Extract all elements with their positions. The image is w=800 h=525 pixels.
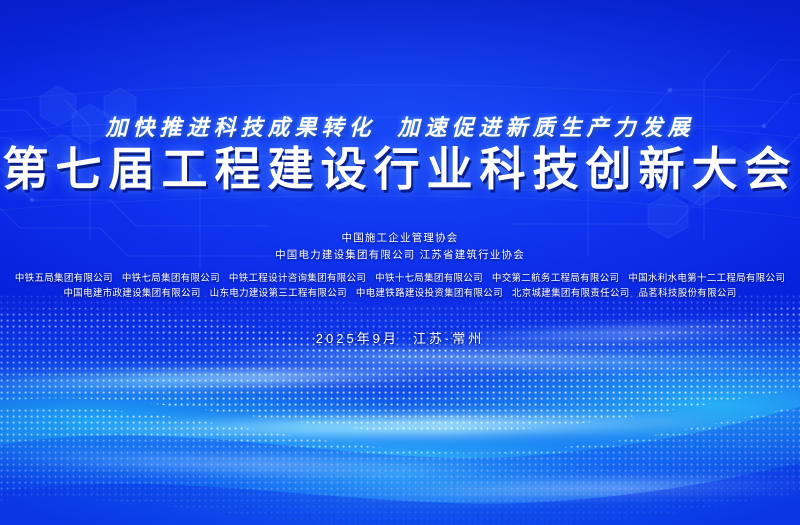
co-organizer: 山东电力建设第三工程有限公司 <box>210 288 347 299</box>
slogan-line: 加快推进科技成果转化加速促进新质生产力发展 <box>0 110 800 142</box>
co-organizer: 中电建铁路建设投资集团有限公司 <box>356 288 503 299</box>
co-organizer: 中国电建市政建设集团有限公司 <box>63 288 200 299</box>
co-organizer: 中国水利水电第十二工程局有限公司 <box>628 273 785 284</box>
co-organizer-row-2: 中国电建市政建设集团有限公司山东电力建设第三工程有限公司中电建铁路建设投资集团有… <box>0 286 800 301</box>
co-organizer-row-1: 中铁五局集团有限公司中铁七局集团有限公司中铁工程设计咨询集团有限公司中铁十七局集… <box>0 271 800 286</box>
host-organization-primary: 中国施工企业管理协会 <box>0 230 800 247</box>
organizer-block: 中国施工企业管理协会 中国电力建设集团有限公司 江苏省建筑行业协会 中铁五局集团… <box>0 230 800 301</box>
co-organizer: 中铁五局集团有限公司 <box>15 273 113 284</box>
slogan-left: 加快推进科技成果转化 <box>105 115 375 140</box>
event-date: 2025年9月 <box>316 331 399 346</box>
co-organizer: 中铁十七局集团有限公司 <box>375 273 483 284</box>
event-datetime-location: 2025年9月江苏·常州 <box>0 328 800 347</box>
event-location: 江苏·常州 <box>413 331 484 346</box>
slogan-right: 加速促进新质生产力发展 <box>398 115 695 140</box>
conference-banner: 加快推进科技成果转化加速促进新质生产力发展 第七届工程建设行业科技创新大会 中国… <box>0 0 800 525</box>
co-organizer: 品茗科技股份有限公司 <box>639 288 737 299</box>
banner-content: 加快推进科技成果转化加速促进新质生产力发展 第七届工程建设行业科技创新大会 中国… <box>0 0 800 525</box>
co-organizer: 中铁七局集团有限公司 <box>122 273 220 284</box>
host-organization-secondary: 中国电力建设集团有限公司 江苏省建筑行业协会 <box>0 247 800 264</box>
co-organizer: 北京城建集团有限责任公司 <box>512 288 630 299</box>
page-title: 第七届工程建设行业科技创新大会 <box>0 141 800 197</box>
organizer-spacer <box>0 264 800 271</box>
co-organizer: 中交第二航务工程局有限公司 <box>492 273 619 284</box>
co-organizer: 中铁工程设计咨询集团有限公司 <box>229 273 366 284</box>
